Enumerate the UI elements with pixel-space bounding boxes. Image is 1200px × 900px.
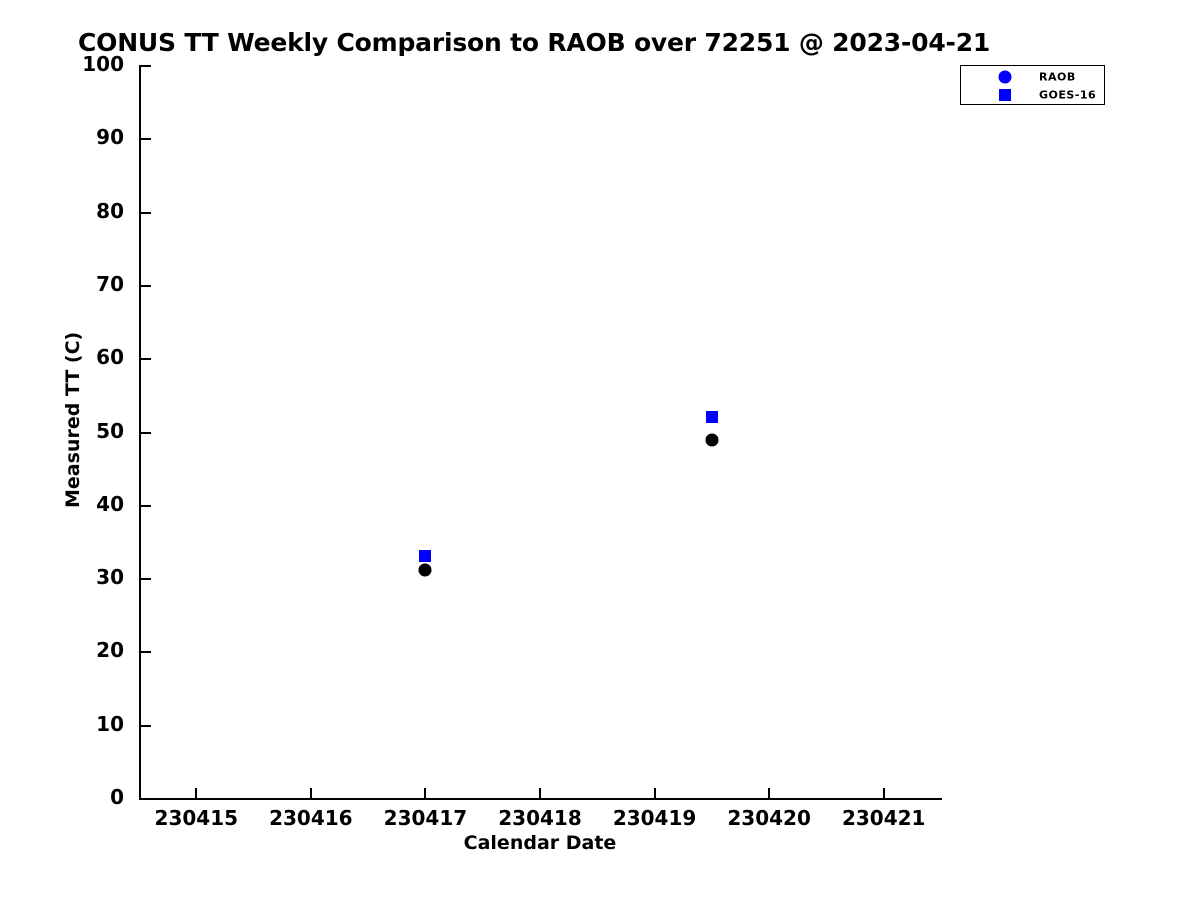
x-tick-label: 230420 [727,806,811,830]
y-tick-label: 10 [96,712,124,736]
legend-marker-circle-icon [999,70,1012,83]
data-point-goes-16 [419,550,431,562]
y-tick-label: 20 [96,638,124,662]
y-tick-label: 60 [96,345,124,369]
y-tick-label: 0 [110,785,124,809]
data-point-raob [419,564,432,577]
x-tick-label: 230418 [498,806,582,830]
x-tick-label: 230415 [155,806,239,830]
y-tick-label: 90 [96,125,124,149]
y-tick-label: 100 [82,52,124,76]
x-axis-label: Calendar Date [0,832,1080,854]
x-tick-label: 230417 [384,806,468,830]
y-tick-label: 40 [96,492,124,516]
x-tick-label: 230416 [269,806,353,830]
y-tick-label: 70 [96,272,124,296]
x-tick-label: 230419 [613,806,697,830]
chart-title: CONUS TT Weekly Comparison to RAOB over … [78,28,990,57]
y-tick-label: 30 [96,565,124,589]
legend-label: RAOB [1039,70,1076,83]
plot-area [139,66,941,799]
legend-entry-raob[interactable]: RAOB [961,67,1104,86]
y-tick-label: 50 [96,419,124,443]
legend-marker-square-icon [999,89,1011,101]
y-tick-label: 80 [96,199,124,223]
data-point-raob [705,433,718,446]
x-tick-label: 230421 [842,806,926,830]
data-point-goes-16 [706,411,718,423]
legend-label: GOES-16 [1039,88,1096,101]
y-axis-label: Measured TT (C) [62,208,84,508]
chart-legend: RAOBGOES-16 [960,65,1105,105]
legend-entry-goes-16[interactable]: GOES-16 [961,85,1104,104]
